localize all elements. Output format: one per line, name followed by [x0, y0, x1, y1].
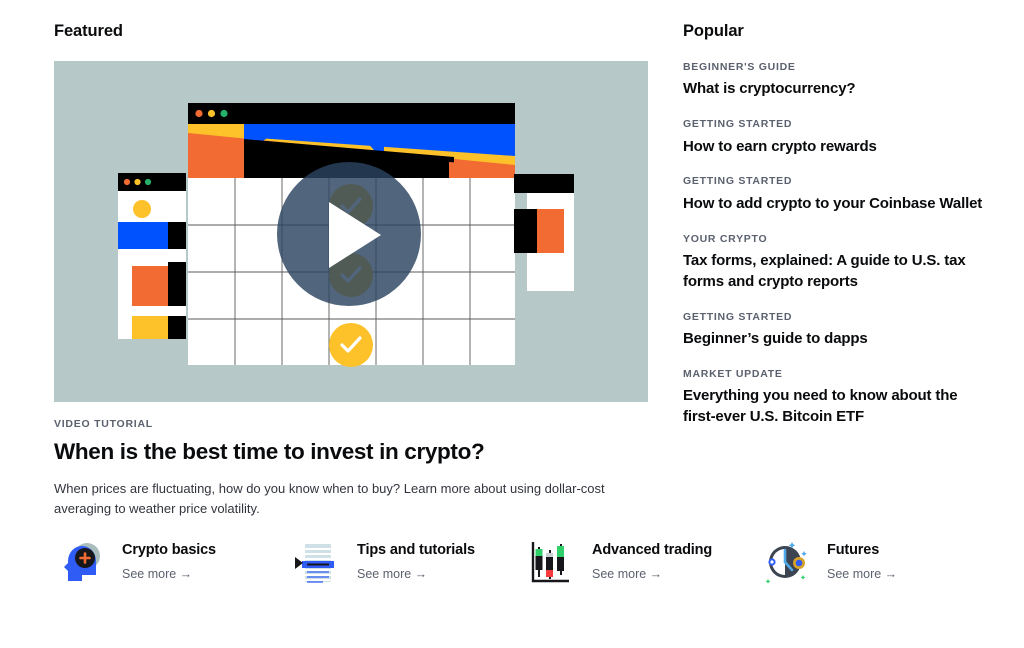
left-small-window — [118, 173, 186, 339]
article-hub-page: Featured — [0, 0, 1024, 648]
featured-video-thumbnail[interactable] — [54, 61, 648, 402]
category-card-text: Futures See more → — [827, 542, 897, 581]
popular-item-title[interactable]: How to add crypto to your Coinbase Walle… — [683, 194, 983, 215]
popular-item[interactable]: GETTING STARTED How to earn crypto rewar… — [683, 118, 983, 157]
category-card-tips-and-tutorials[interactable]: Tips and tutorials See more → — [289, 536, 524, 588]
popular-item-title[interactable]: What is cryptocurrency? — [683, 79, 983, 100]
category-label: Crypto basics — [122, 542, 216, 559]
popular-item-category: GETTING STARTED — [683, 175, 983, 188]
category-card-text: Crypto basics See more → — [122, 542, 216, 581]
category-card-text: Advanced trading See more → — [592, 542, 712, 581]
popular-item[interactable]: GETTING STARTED How to add crypto to you… — [683, 175, 983, 214]
play-button-overlay[interactable] — [277, 162, 421, 306]
popular-item-category: GETTING STARTED — [683, 118, 983, 131]
category-card-advanced-trading[interactable]: Advanced trading See more → — [524, 536, 759, 588]
popular-item[interactable]: YOUR CRYPTO Tax forms, explained: A guid… — [683, 233, 983, 293]
popular-item[interactable]: MARKET UPDATE Everything you need to kno… — [683, 368, 983, 428]
popular-section: Popular BEGINNER'S GUIDE What is cryptoc… — [683, 22, 983, 428]
category-see-more-link[interactable]: See more → — [357, 567, 475, 582]
category-links-row: Crypto basics See more → — [54, 536, 994, 588]
featured-section-title: Featured — [54, 22, 648, 42]
category-label: Futures — [827, 542, 897, 559]
popular-item-title[interactable]: Beginner’s guide to dapps — [683, 329, 983, 350]
popular-item-category: BEGINNER'S GUIDE — [683, 61, 983, 74]
category-card-crypto-basics[interactable]: Crypto basics See more → — [54, 536, 289, 588]
category-card-futures[interactable]: Futures See more → — [759, 536, 994, 588]
category-label: Tips and tutorials — [357, 542, 475, 559]
popular-section-title: Popular — [683, 22, 983, 42]
category-card-text: Tips and tutorials See more → — [357, 542, 475, 581]
featured-kicker: VIDEO TUTORIAL — [54, 418, 648, 430]
head-profile-plus-icon — [54, 536, 108, 588]
featured-description: When prices are fluctuating, how do you … — [54, 479, 639, 520]
popular-article-list: BEGINNER'S GUIDE What is cryptocurrency?… — [683, 61, 983, 428]
clock-coin-icon — [759, 536, 813, 588]
popular-item[interactable]: GETTING STARTED Beginner’s guide to dapp… — [683, 311, 983, 350]
category-see-more-link[interactable]: See more → — [592, 567, 712, 582]
category-see-more-link[interactable]: See more → — [827, 567, 897, 582]
candlestick-chart-icon — [524, 536, 578, 588]
featured-headline[interactable]: When is the best time to invest in crypt… — [54, 438, 648, 466]
category-see-more-link[interactable]: See more → — [122, 567, 216, 582]
category-label: Advanced trading — [592, 542, 712, 559]
popular-item-category: MARKET UPDATE — [683, 368, 983, 381]
popular-item-category: YOUR CRYPTO — [683, 233, 983, 246]
hero-illustration — [54, 61, 648, 402]
document-highlight-cursor-icon — [289, 536, 343, 588]
featured-section: Featured — [54, 22, 648, 520]
popular-item-title[interactable]: Everything you need to know about the fi… — [683, 386, 983, 427]
popular-item-category: GETTING STARTED — [683, 311, 983, 324]
popular-item-title[interactable]: Tax forms, explained: A guide to U.S. ta… — [683, 251, 983, 292]
popular-item[interactable]: BEGINNER'S GUIDE What is cryptocurrency? — [683, 61, 983, 100]
popular-item-title[interactable]: How to earn crypto rewards — [683, 137, 983, 158]
